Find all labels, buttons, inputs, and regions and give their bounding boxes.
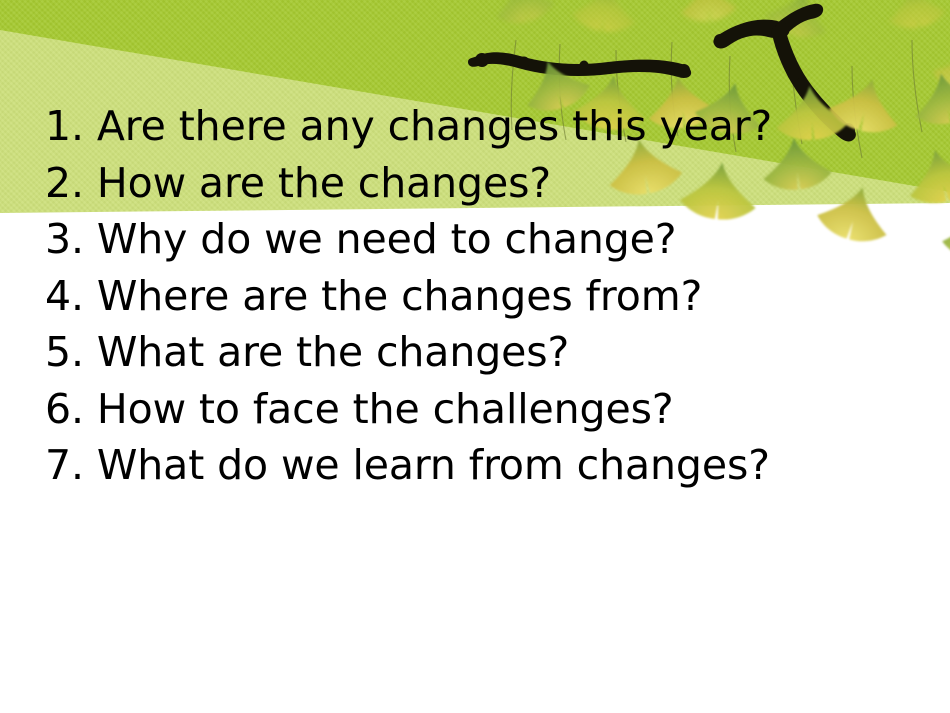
list-item: 7. What do we learn from changes? (45, 437, 915, 494)
question-list: 1. Are there any changes this year? 2. H… (45, 98, 915, 494)
list-item: 3. Why do we need to change? (45, 211, 915, 268)
list-item: 6. How to face the challenges? (45, 381, 915, 438)
list-item: 5. What are the changes? (45, 324, 915, 381)
list-item: 1. Are there any changes this year? (45, 98, 915, 155)
list-item: 4. Where are the changes from? (45, 268, 915, 325)
slide-canvas: 1. Are there any changes this year? 2. H… (0, 0, 950, 713)
list-item: 2. How are the changes? (45, 155, 915, 212)
